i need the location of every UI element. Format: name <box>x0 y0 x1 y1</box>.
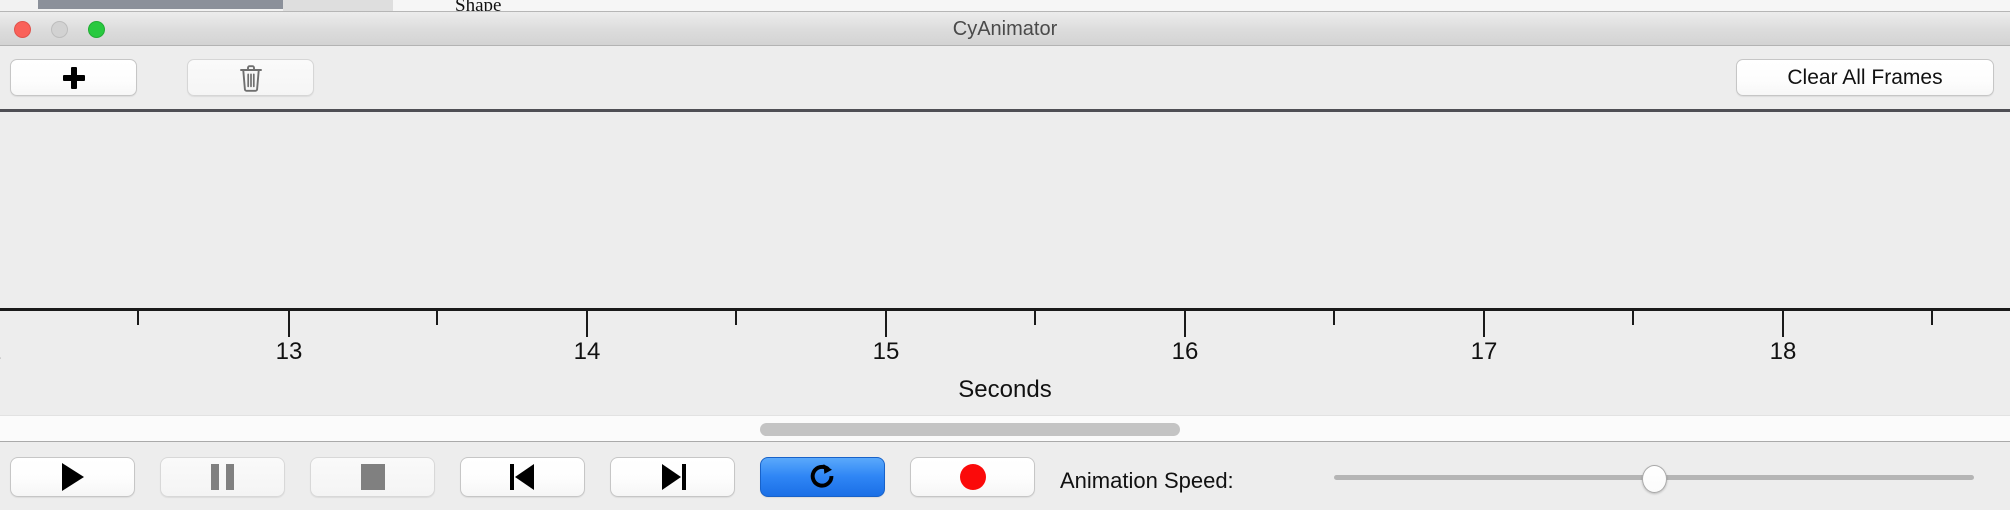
ruler-tick-label: 17 <box>1471 338 1498 366</box>
pause-icon <box>211 464 234 490</box>
background-cell <box>283 0 336 11</box>
background-dark-tab <box>38 0 283 9</box>
background-cell <box>736 0 873 11</box>
ruler-baseline <box>0 308 2010 311</box>
ruler-tick-major <box>1483 311 1485 337</box>
animation-speed-label: Animation Speed: <box>1060 468 1234 494</box>
ruler-tick-major <box>288 311 290 337</box>
background-cell <box>1226 0 1353 11</box>
ruler-tick-label: 18 <box>1770 338 1797 366</box>
stop-icon <box>361 464 385 490</box>
ruler-tick-label: 16 <box>1172 338 1199 366</box>
record-button[interactable] <box>910 457 1035 497</box>
toolbar: Clear All Frames <box>0 46 2010 109</box>
background-cell <box>1001 0 1107 11</box>
ruler-tick-minor <box>1034 311 1036 325</box>
title-bar: CyAnimator <box>0 12 2010 46</box>
ruler-tick-label: 15 <box>873 338 900 366</box>
ruler-tick-label: 12 <box>0 338 1 366</box>
play-button[interactable] <box>10 457 135 497</box>
plus-icon <box>62 66 86 90</box>
cyanimator-window: Shape CyAnimator Clear All Frames MCM1MC… <box>0 0 2010 510</box>
scrollbar-thumb[interactable] <box>760 423 1180 436</box>
ruler-tick-minor <box>1632 311 1634 325</box>
ruler-tick-label: 13 <box>276 338 303 366</box>
animation-speed-slider[interactable] <box>1334 457 1974 497</box>
ruler-tick-label: 14 <box>574 338 601 366</box>
ruler-tick-major <box>885 311 887 337</box>
playback-bar: Animation Speed: <box>0 442 2010 510</box>
ruler-tick-major <box>1184 311 1186 337</box>
timeline-ruler: 12131415161718 Seconds <box>0 308 2010 406</box>
skip-forward-icon <box>660 464 686 490</box>
background-cell <box>1612 0 1873 11</box>
axis-title: Seconds <box>0 376 2010 404</box>
delete-frame-button[interactable] <box>187 59 314 96</box>
ruler-tick-minor <box>1931 311 1933 325</box>
background-cell <box>1872 0 2010 11</box>
background-cell <box>872 0 1002 11</box>
timeline-track[interactable]: MCM1MCM1MCM1 <box>0 112 2010 308</box>
skip-to-start-button[interactable] <box>460 457 585 497</box>
background-cell <box>1106 0 1227 11</box>
add-frame-button[interactable] <box>10 59 137 96</box>
clear-all-frames-button[interactable]: Clear All Frames <box>1736 59 1994 96</box>
record-icon <box>960 464 986 490</box>
background-cell <box>335 0 394 11</box>
trash-icon <box>238 64 264 92</box>
stop-button[interactable] <box>310 457 435 497</box>
slider-thumb[interactable] <box>1642 465 1667 493</box>
ruler-tick-major <box>1782 311 1784 337</box>
loop-button[interactable] <box>760 457 885 497</box>
window-title: CyAnimator <box>0 12 2010 46</box>
ruler-tick-minor <box>137 311 139 325</box>
background-cell <box>1352 0 1613 11</box>
ruler-tick-minor <box>436 311 438 325</box>
skip-to-end-button[interactable] <box>610 457 735 497</box>
horizontal-scrollbar[interactable] <box>0 415 2010 442</box>
background-cell <box>630 0 737 11</box>
play-icon <box>62 463 84 491</box>
loop-icon <box>808 462 838 492</box>
ruler-tick-major <box>586 311 588 337</box>
clear-all-frames-label: Clear All Frames <box>1787 66 1942 90</box>
skip-back-icon <box>510 464 536 490</box>
ruler-tick-minor <box>735 311 737 325</box>
pause-button[interactable] <box>160 457 285 497</box>
background-cell <box>520 0 631 11</box>
ruler-tick-minor <box>1333 311 1335 325</box>
